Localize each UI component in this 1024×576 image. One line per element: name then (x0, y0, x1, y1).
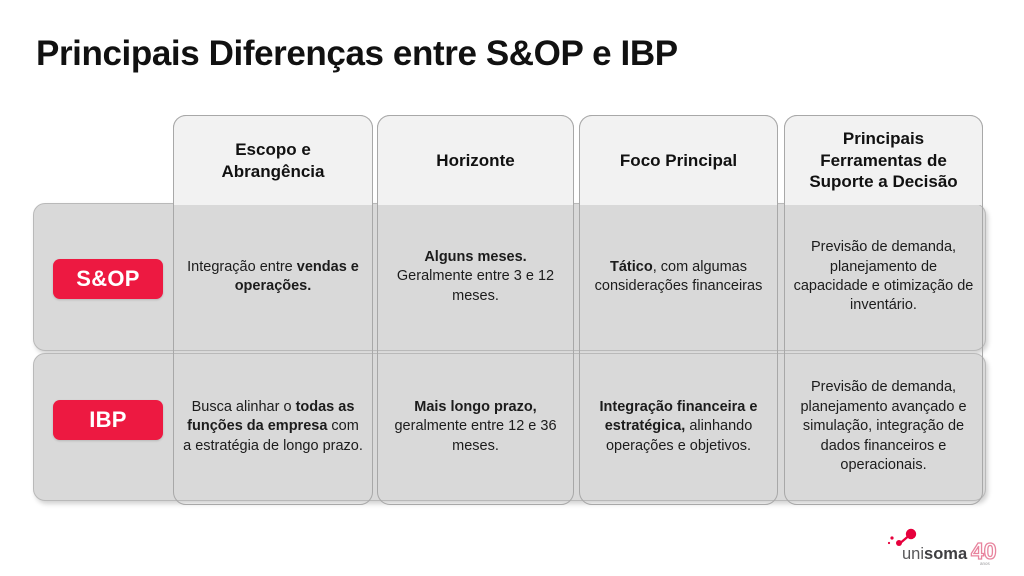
cell-sop-escopo: Integração entre vendas e operações. (173, 203, 373, 351)
cell-ibp-foco: Integração financeira e estratégica, ali… (579, 353, 778, 501)
row-badge-sop: S&OP (53, 259, 163, 299)
column-header-ferramentas: Principais Ferramentas de Suporte a Deci… (784, 115, 983, 205)
cell-sop-foco: Tático, com algumas considerações financ… (579, 203, 778, 351)
unisoma-logo: unisoma 40 anos (886, 527, 1008, 571)
page-title: Principais Diferenças entre S&OP e IBP (36, 34, 678, 74)
logo-anniversary-sub: anos (980, 561, 991, 566)
cell-ibp-horizonte: Mais longo prazo, geralmente entre 12 e … (377, 353, 574, 501)
column-header-foco: Foco Principal (579, 115, 778, 205)
row-badge-ibp: IBP (53, 400, 163, 440)
cell-sop-ferramentas: Previsão de demanda, planejamento de cap… (784, 203, 983, 351)
cell-ibp-escopo: Busca alinhar o todas as funções da empr… (173, 353, 373, 501)
slide-root: Principais Diferenças entre S&OP e IBP E… (0, 0, 1024, 576)
cell-sop-horizonte: Alguns meses. Geralmente entre 3 e 12 me… (377, 203, 574, 351)
logo-anniversary-40: 40 anos (971, 538, 997, 566)
logo-wordmark-light: unisoma (902, 545, 968, 563)
cell-ibp-ferramentas: Previsão de demanda, planejamento avança… (784, 353, 983, 501)
column-header-escopo: Escopo e Abrangência (173, 115, 373, 205)
column-header-horizonte: Horizonte (377, 115, 574, 205)
logo-wordmark-bold: soma (924, 545, 968, 563)
logo-dots-icon (888, 529, 916, 546)
